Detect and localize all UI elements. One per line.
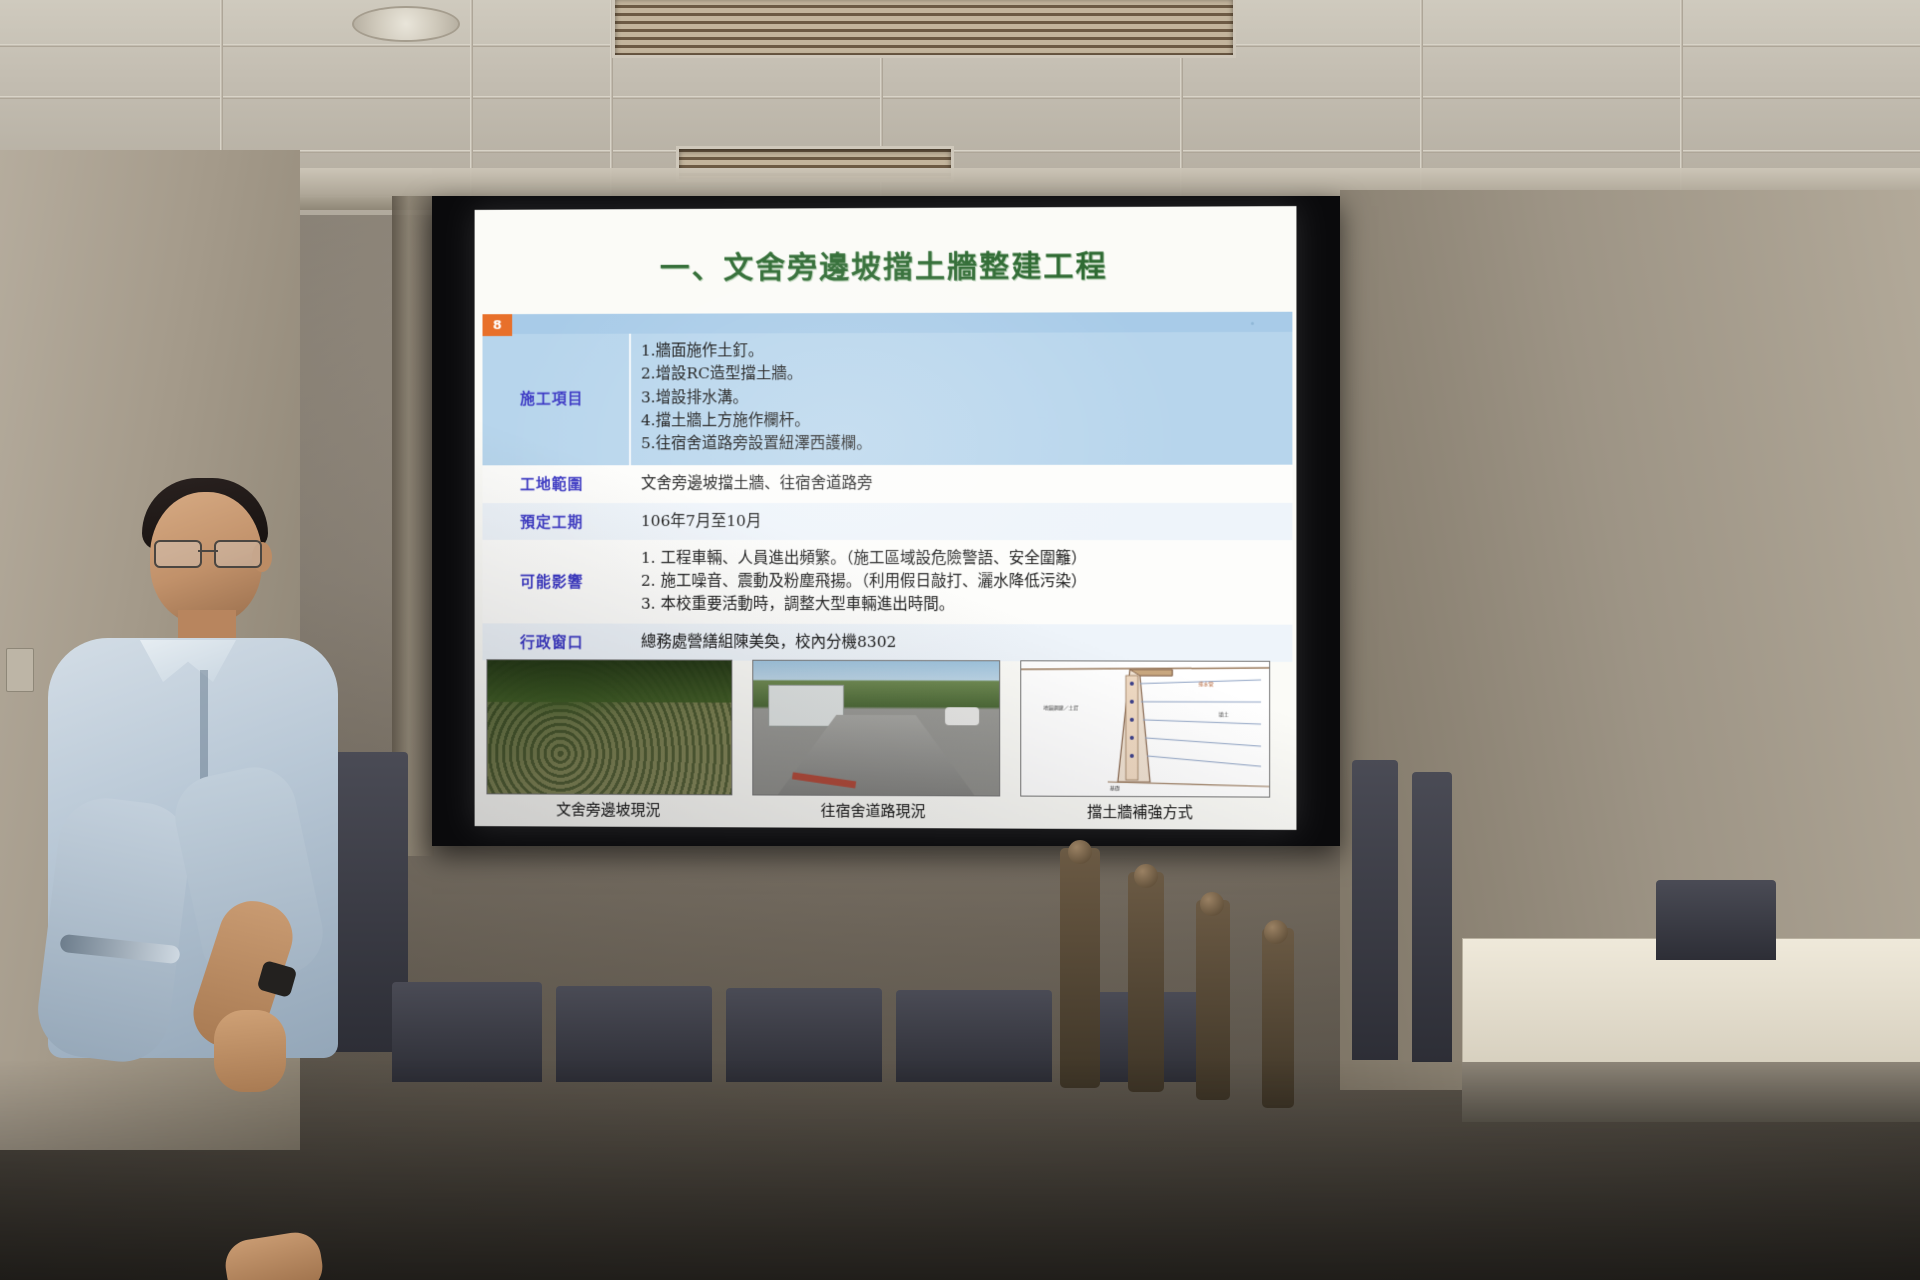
table-row: 施工項目 1.牆面施作土釘。 2.增設RC造型擋土牆。 3.增設排水溝。 4.擋… bbox=[483, 332, 1293, 466]
slope-photo bbox=[486, 659, 732, 795]
diagram-label: 地錨鋼腱／土釘 bbox=[1043, 704, 1078, 711]
chair-knob bbox=[1068, 840, 1092, 864]
chair bbox=[1656, 880, 1776, 960]
row-value: 106年7月至10月 bbox=[621, 509, 1292, 532]
glasses-lens-left bbox=[154, 540, 202, 568]
left-hand bbox=[222, 1229, 326, 1280]
slide-title: 一、文舍旁邊坡擋土牆整建工程 bbox=[475, 240, 1297, 287]
row-value: 1.牆面施作土釘。 2.增設RC造型擋土牆。 3.增設排水溝。 4.擋土牆上方施… bbox=[621, 338, 1292, 456]
photo-captions: 文舍旁邊坡現況 往宿舍道路現況 擋土牆補強方式 bbox=[486, 798, 1284, 822]
glasses-bridge bbox=[198, 550, 218, 552]
car-shape bbox=[945, 707, 979, 725]
presenter bbox=[20, 470, 360, 1280]
shirt-placket bbox=[200, 670, 208, 780]
list-item: 5.往宿舍道路旁設置紐澤西護欄。 bbox=[641, 431, 1292, 455]
chair-rail bbox=[1060, 848, 1100, 1088]
chair-rail bbox=[1128, 872, 1164, 1092]
photo-caption: 文舍旁邊坡現況 bbox=[486, 798, 730, 820]
glasses-lens-right bbox=[214, 540, 262, 568]
list-item: 2.增設RC造型擋土牆。 bbox=[641, 361, 1292, 386]
ceiling-vent-upper bbox=[612, 0, 1236, 58]
conference-room-scene: 一、文舍旁邊坡擋土牆整建工程 施工項目 1.牆面施作土釘。 2.增設RC造型擋土… bbox=[0, 0, 1920, 1280]
tree-canopy bbox=[487, 660, 731, 702]
diagram-label: 基礎 bbox=[1110, 785, 1120, 792]
chair-knob bbox=[1134, 864, 1158, 888]
row-key: 施工項目 bbox=[483, 387, 622, 408]
photo-caption: 往宿舍道路現況 bbox=[750, 799, 996, 821]
slide: 一、文舍旁邊坡擋土牆整建工程 施工項目 1.牆面施作土釘。 2.增設RC造型擋土… bbox=[475, 206, 1297, 830]
slide-page-badge: 8 bbox=[483, 314, 513, 336]
row-key: 工地範圍 bbox=[483, 474, 622, 495]
chair-knob bbox=[1264, 920, 1288, 944]
list-item: 3.增設排水溝。 bbox=[641, 385, 1292, 409]
table-row: 預定工期 106年7月至10月 bbox=[483, 502, 1293, 539]
right-hand bbox=[214, 1010, 286, 1092]
row-value: 總務處營繕組陳美奐，校內分機8302 bbox=[621, 630, 1292, 655]
list-item: 4.擋土牆上方施作欄杆。 bbox=[641, 408, 1292, 432]
list-item: 3. 本校重要活動時，調整大型車輛進出時間。 bbox=[641, 593, 1292, 617]
row-key: 可能影響 bbox=[483, 571, 622, 592]
list-item: 1.牆面施作土釘。 bbox=[641, 338, 1292, 363]
table-row: 工地範圍 文舍旁邊坡擋土牆、往宿舍道路旁 bbox=[483, 465, 1293, 503]
diagram-label: 填土 bbox=[1219, 711, 1229, 718]
chair bbox=[1412, 772, 1452, 1062]
row-key: 行政窗口 bbox=[483, 631, 622, 652]
row-key: 預定工期 bbox=[483, 511, 622, 532]
header-dot-icon bbox=[1251, 322, 1254, 325]
photo-strip: 排水管 地錨鋼腱／土釘 填土 基礎 bbox=[486, 659, 1284, 798]
diagram-label: 排水管 bbox=[1198, 681, 1213, 688]
row-value: 文舍旁邊坡擋土牆、往宿舍道路旁 bbox=[621, 472, 1292, 496]
table-header-strip bbox=[483, 312, 1293, 334]
chair-knob bbox=[1200, 892, 1224, 916]
list-item: 1. 工程車輛、人員進出頻繁。（施工區域設危險警語、安全圍籬） bbox=[641, 547, 1292, 571]
list-item: 2. 施工噪音、震動及粉塵飛揚。（利用假日敲打、灑水降低污染） bbox=[641, 570, 1292, 594]
glasses-icon bbox=[154, 540, 262, 564]
projection-screen: 一、文舍旁邊坡擋土牆整建工程 施工項目 1.牆面施作土釘。 2.增設RC造型擋土… bbox=[475, 206, 1297, 830]
slide-table: 施工項目 1.牆面施作土釘。 2.增設RC造型擋土牆。 3.增設排水溝。 4.擋… bbox=[483, 312, 1293, 662]
photo-caption: 擋土牆補強方式 bbox=[1016, 801, 1264, 823]
table-row: 行政窗口 總務處營繕組陳美奐，校內分機8302 bbox=[483, 623, 1293, 662]
ceiling-light bbox=[352, 6, 460, 42]
retaining-wall-diagram: 排水管 地錨鋼腱／土釘 填土 基礎 bbox=[1020, 660, 1270, 797]
table-row: 可能影響 1. 工程車輛、人員進出頻繁。（施工區域設危險警語、安全圍籬） 2. … bbox=[483, 540, 1293, 625]
row-value: 1. 工程車輛、人員進出頻繁。（施工區域設危險警語、安全圍籬） 2. 施工噪音、… bbox=[621, 547, 1292, 617]
wall-section-svg: 排水管 地錨鋼腱／土釘 填土 基礎 bbox=[1021, 661, 1269, 796]
dormitory-road-photo bbox=[752, 660, 1000, 797]
chair bbox=[1352, 760, 1398, 1060]
table-divider bbox=[629, 334, 631, 466]
